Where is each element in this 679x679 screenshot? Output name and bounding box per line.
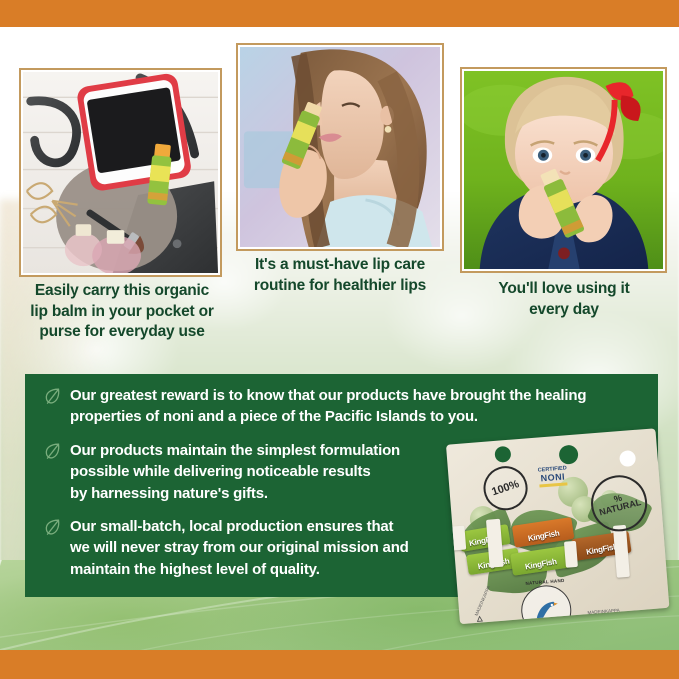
kingfisher-bird-icon [532, 598, 560, 622]
leaf-icon [44, 387, 61, 411]
kraft-backing-card: KingFish KingFish KingFish KingFish King… [446, 428, 669, 624]
hang-hole [494, 446, 511, 463]
woman-applying-balm-illustration [240, 47, 440, 247]
product-pack-photo: KingFish KingFish KingFish KingFish King… [435, 419, 679, 641]
mission-bullet-text: Our products maintain the simplest formu… [70, 440, 400, 504]
recycle-icon [475, 610, 484, 619]
photo-everyday [464, 71, 663, 269]
mission-bullet-text: Our greatest reward is to know that our … [70, 385, 586, 428]
product-infographic-page: Easily carry this organic lip balm in yo… [0, 0, 679, 679]
bottom-orange-band [0, 650, 679, 679]
leaf-icon [44, 518, 61, 542]
hundred-percent-stamp-text: 100% [490, 478, 520, 498]
photo-pocket [23, 72, 218, 273]
caption-routine: It's a must-have lip care routine for he… [233, 255, 447, 296]
natural-stamp-text: % NATURAL [592, 488, 647, 518]
footer-mark: MADEINKAPPA [587, 608, 619, 616]
photo-frame-everyday [460, 67, 667, 273]
mission-bullet: Our products maintain the simplest formu… [44, 440, 474, 504]
noni-certification-badge: CERTIFIED NONI [530, 465, 575, 488]
handbag-lipbalm-illustration [23, 72, 218, 273]
mission-bullet: Our small-batch, local production ensure… [44, 516, 474, 580]
mission-bullet-text: Our small-batch, local production ensure… [70, 516, 409, 580]
hang-hole [619, 450, 636, 467]
tube-cap [450, 526, 466, 551]
hang-hole [558, 444, 578, 464]
photo-frame-pocket [19, 68, 222, 277]
toddler-with-lipbalm-illustration [464, 71, 663, 269]
caption-pocket: Easily carry this organic lip balm in yo… [14, 281, 230, 343]
photo-frame-routine [236, 43, 444, 251]
tube-brand-label: KingFish [459, 531, 510, 550]
caption-everyday: You'll love using it every day [455, 279, 673, 320]
leaf-icon [44, 442, 61, 466]
photo-routine [240, 47, 440, 247]
top-orange-band [0, 0, 679, 27]
mission-bullet: Our greatest reward is to know that our … [44, 385, 642, 428]
tube-cap [564, 541, 578, 568]
